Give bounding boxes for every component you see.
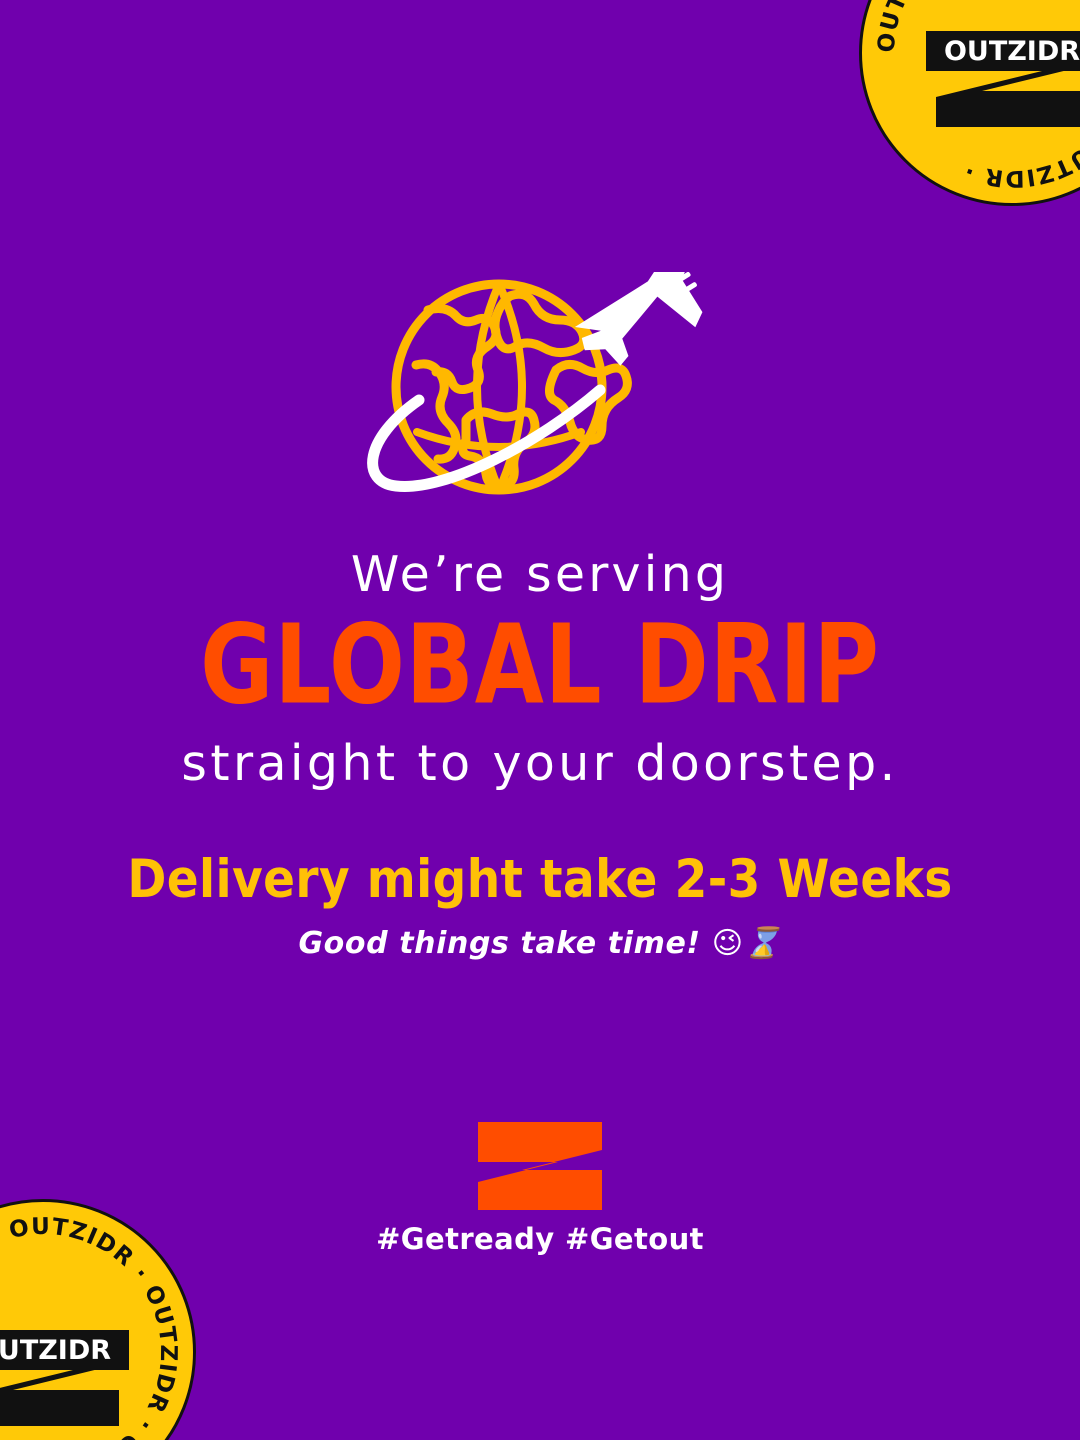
badge-wordmark-bl: OUTZIDR: [0, 1337, 111, 1364]
badge-core-bl: OUTZIDR: [0, 1334, 136, 1370]
continent-northeast-icon: [495, 294, 584, 352]
globe-illustration: [0, 272, 1080, 516]
badge-core-tr: OUTZIDR: [919, 35, 1080, 71]
badge-wordmark-bar-bl: OUTZIDR: [0, 1330, 129, 1370]
subline-text: straight to your doorstep.: [0, 737, 1080, 792]
globe-with-airplane-icon: [354, 272, 726, 516]
delivery-subtext: Good things take time! 😉⌛: [0, 927, 1080, 960]
badge-wordmark-tr: OUTZIDR: [944, 38, 1080, 65]
copy-block: We’re serving GLOBAL DRIP straight to yo…: [0, 548, 1080, 960]
outzidr-z-logo-icon: [478, 1122, 602, 1210]
eyebrow-text: We’re serving: [0, 548, 1080, 603]
footer-branding: #Getready #Getout: [0, 1122, 1080, 1256]
outzidr-sticker-top-right: OUTZIDR · OUTZIDR · OUTZIDR · OUTZIDR · …: [859, 0, 1080, 206]
delivery-notice: Delivery might take 2-3 Weeks: [0, 851, 1080, 909]
page-title: GLOBAL DRIP: [38, 610, 1042, 719]
promo-poster: OUTZIDR · OUTZIDR · OUTZIDR · OUTZIDR · …: [0, 0, 1080, 1440]
globe-latitude-icon: [417, 432, 581, 447]
badge-wordmark-bar-tr: OUTZIDR: [926, 31, 1080, 71]
hashtags-text: #Getready #Getout: [0, 1222, 1080, 1256]
